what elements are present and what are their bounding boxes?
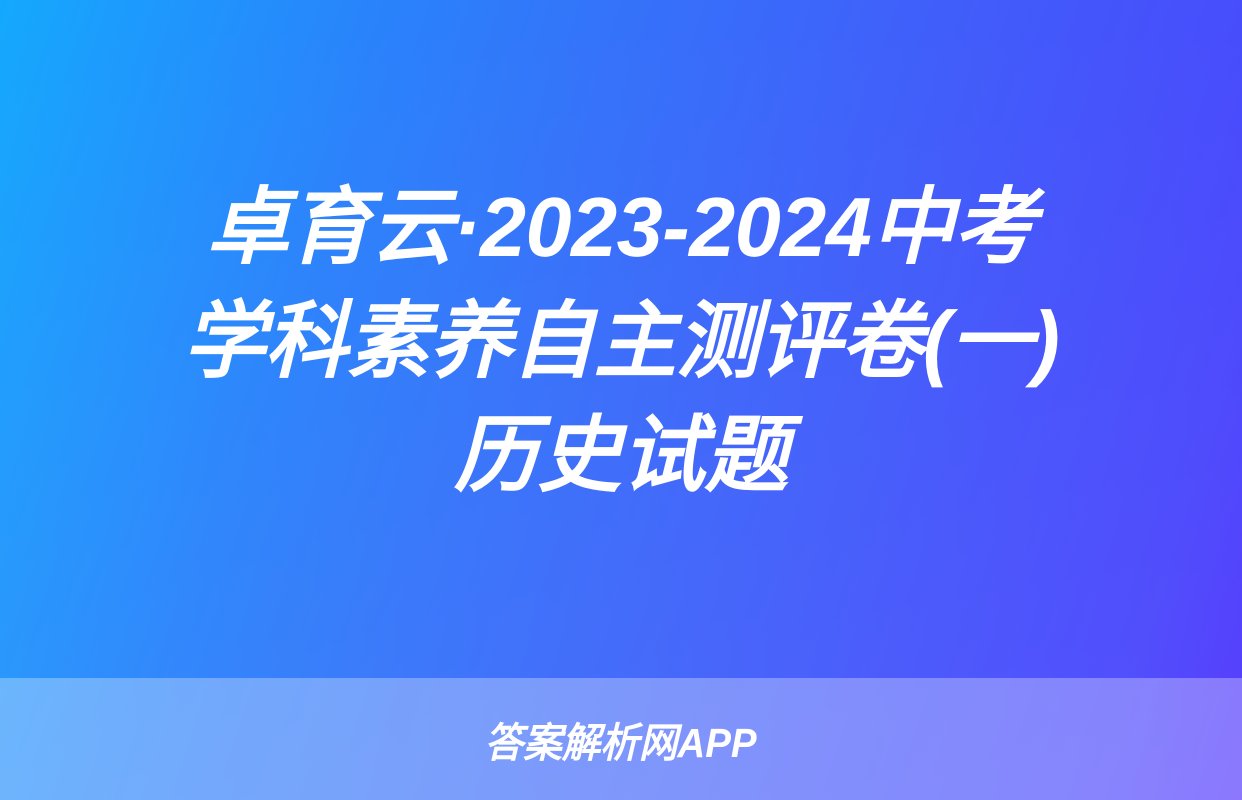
exam-cover-page: 卓育云·2023-2024中考 学科素养自主测评卷(一) 历史试题 答案解析网A…: [0, 0, 1242, 800]
cover-title-line-2: 学科素养自主测评卷(一): [23, 284, 1219, 398]
watermark-band: 答案解析网APP: [0, 678, 1242, 800]
cover-title-block: 卓育云·2023-2024中考 学科素养自主测评卷(一) 历史试题: [0, 170, 1242, 513]
watermark-text: 答案解析网APP: [485, 709, 757, 769]
cover-title-line-1: 卓育云·2023-2024中考: [23, 170, 1219, 284]
cover-title-line-3: 历史试题: [14, 398, 1228, 512]
